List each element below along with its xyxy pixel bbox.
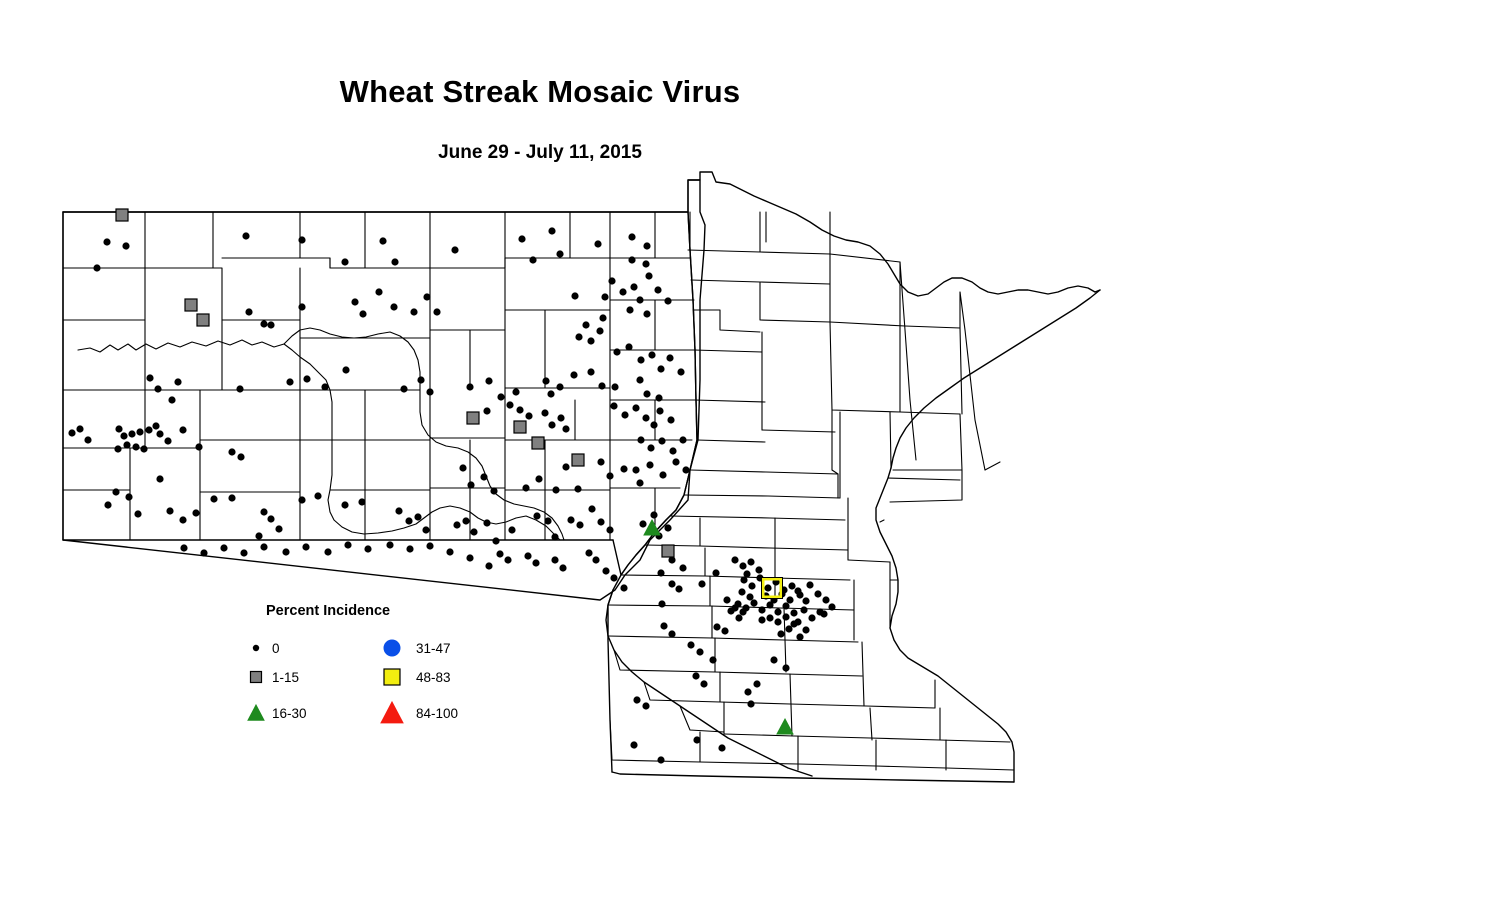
marker-dot bbox=[375, 288, 382, 295]
marker-square-gray bbox=[514, 421, 526, 433]
marker-dot bbox=[341, 501, 348, 508]
marker-dot bbox=[548, 227, 555, 234]
marker-triangle-green bbox=[777, 719, 793, 734]
marker-dot bbox=[602, 567, 609, 574]
marker-dot bbox=[529, 256, 536, 263]
marker-dot bbox=[547, 390, 554, 397]
marker-dot bbox=[766, 601, 773, 608]
legend-symbol-square bbox=[384, 669, 400, 685]
marker-dot bbox=[669, 447, 676, 454]
marker-dot bbox=[739, 608, 746, 615]
marker-dot bbox=[664, 297, 671, 304]
marker-dot bbox=[68, 429, 75, 436]
incidence-map: Percent Incidence 01-1516-3031-4748-8384… bbox=[0, 0, 1503, 900]
marker-dot bbox=[192, 509, 199, 516]
marker-dot bbox=[132, 443, 139, 450]
marker-dot bbox=[228, 494, 235, 501]
marker-dot bbox=[657, 365, 664, 372]
marker-dot bbox=[562, 463, 569, 470]
marker-dot bbox=[790, 609, 797, 616]
marker-dot bbox=[636, 376, 643, 383]
marker-dot bbox=[656, 407, 663, 414]
marker-dot bbox=[506, 401, 513, 408]
marker-dot bbox=[567, 516, 574, 523]
marker-dot bbox=[490, 487, 497, 494]
marker-dot bbox=[782, 664, 789, 671]
marker-dot bbox=[657, 569, 664, 576]
marker-dot bbox=[687, 641, 694, 648]
marker-dot bbox=[557, 414, 564, 421]
marker-dot bbox=[195, 443, 202, 450]
marker-dot bbox=[559, 564, 566, 571]
mn-counties bbox=[608, 212, 1014, 770]
marker-dot bbox=[738, 588, 745, 595]
marker-dot bbox=[414, 513, 421, 520]
marker-dot bbox=[551, 556, 558, 563]
marker-dot bbox=[664, 524, 671, 531]
marker-dot bbox=[588, 505, 595, 512]
marker-dot bbox=[562, 425, 569, 432]
marker-dot bbox=[747, 700, 754, 707]
marker-dot bbox=[451, 246, 458, 253]
marker-dot bbox=[84, 436, 91, 443]
marker-dot bbox=[128, 430, 135, 437]
marker-dot bbox=[390, 303, 397, 310]
marker-dot bbox=[659, 471, 666, 478]
marker-dot bbox=[601, 293, 608, 300]
marker-dot bbox=[698, 580, 705, 587]
marker-dot bbox=[650, 511, 657, 518]
marker-dot bbox=[525, 412, 532, 419]
marker-dot bbox=[518, 235, 525, 242]
marker-dot bbox=[608, 277, 615, 284]
marker-dot bbox=[395, 507, 402, 514]
legend-symbol-square bbox=[251, 672, 262, 683]
marker-dot bbox=[522, 484, 529, 491]
marker-dot bbox=[123, 441, 130, 448]
marker-dot bbox=[597, 518, 604, 525]
marker-dot bbox=[642, 702, 649, 709]
marker-dot bbox=[744, 688, 751, 695]
marker-dot bbox=[606, 472, 613, 479]
marker-dot bbox=[200, 549, 207, 556]
marker-dot bbox=[645, 272, 652, 279]
marker-dot bbox=[237, 453, 244, 460]
marker-dot bbox=[125, 493, 132, 500]
marker-dot bbox=[406, 545, 413, 552]
marker-dot bbox=[731, 556, 738, 563]
marker-dot bbox=[470, 528, 477, 535]
marker-dot bbox=[599, 314, 606, 321]
marker-dot bbox=[140, 445, 147, 452]
legend-title: Percent Incidence bbox=[266, 603, 390, 619]
marker-dot bbox=[114, 445, 121, 452]
marker-dot bbox=[611, 383, 618, 390]
marker-dot bbox=[808, 614, 815, 621]
marker-dot bbox=[753, 680, 760, 687]
legend: Percent Incidence 01-1516-3031-4748-8384… bbox=[248, 603, 458, 723]
marker-dot bbox=[417, 376, 424, 383]
marker-dot bbox=[156, 475, 163, 482]
legend-label: 31-47 bbox=[416, 641, 451, 656]
marker-dot bbox=[777, 630, 784, 637]
legend-symbol-circle bbox=[384, 640, 401, 657]
marker-dot bbox=[666, 354, 673, 361]
marker-square-gray bbox=[532, 437, 544, 449]
marker-dot bbox=[786, 596, 793, 603]
marker-dot bbox=[636, 296, 643, 303]
marker-dot bbox=[446, 548, 453, 555]
marker-dot bbox=[532, 559, 539, 566]
marker-dot bbox=[533, 512, 540, 519]
marker-dot bbox=[632, 466, 639, 473]
marker-dot bbox=[168, 396, 175, 403]
marker-dot bbox=[146, 374, 153, 381]
marker-dot bbox=[115, 425, 122, 432]
marker-dot bbox=[242, 232, 249, 239]
marker-dot bbox=[228, 448, 235, 455]
marker-dot bbox=[785, 625, 792, 632]
marker-dot bbox=[423, 293, 430, 300]
marker-dot bbox=[806, 581, 813, 588]
marker-dot bbox=[643, 242, 650, 249]
marker-dot bbox=[650, 421, 657, 428]
marker-dot bbox=[660, 622, 667, 629]
marker-dot bbox=[462, 517, 469, 524]
marker-dot bbox=[802, 626, 809, 633]
marker-dot bbox=[260, 508, 267, 515]
marker-dot bbox=[642, 414, 649, 421]
marker-dot bbox=[302, 543, 309, 550]
marker-dot bbox=[643, 310, 650, 317]
marker-dot bbox=[391, 258, 398, 265]
marker-dot bbox=[405, 517, 412, 524]
marker-dot bbox=[610, 574, 617, 581]
marker-dot bbox=[179, 426, 186, 433]
marker-dot bbox=[632, 404, 639, 411]
marker-dot bbox=[480, 473, 487, 480]
marker-dot bbox=[459, 464, 466, 471]
marker-dot bbox=[359, 310, 366, 317]
marker-dot bbox=[504, 556, 511, 563]
marker-dot bbox=[758, 606, 765, 613]
marker-dot bbox=[166, 507, 173, 514]
marker-dot bbox=[104, 501, 111, 508]
marker-dot bbox=[658, 437, 665, 444]
marker-dot bbox=[598, 382, 605, 389]
marker-dot bbox=[245, 308, 252, 315]
marker-dot bbox=[750, 599, 757, 606]
marker-dot bbox=[556, 250, 563, 257]
marker-dot bbox=[236, 385, 243, 392]
marker-dot bbox=[544, 517, 551, 524]
marker-dot bbox=[658, 600, 665, 607]
marker-dot bbox=[621, 411, 628, 418]
marker-dot bbox=[774, 608, 781, 615]
marker-dot bbox=[648, 351, 655, 358]
marker-dot bbox=[341, 258, 348, 265]
marker-dot bbox=[541, 409, 548, 416]
marker-dot bbox=[782, 602, 789, 609]
marker-dot bbox=[770, 656, 777, 663]
marker-dot bbox=[422, 526, 429, 533]
marker-dot bbox=[739, 562, 746, 569]
marker-dot bbox=[492, 537, 499, 544]
marker-dot bbox=[639, 520, 646, 527]
marker-dot bbox=[570, 371, 577, 378]
marker-dot bbox=[700, 680, 707, 687]
marker-dot bbox=[298, 496, 305, 503]
marker-dot bbox=[619, 288, 626, 295]
marker-dot bbox=[240, 549, 247, 556]
marker-dot bbox=[344, 541, 351, 548]
marker-dot bbox=[712, 569, 719, 576]
marker-dot bbox=[755, 566, 762, 573]
marker-dot bbox=[677, 368, 684, 375]
marker-dot bbox=[551, 533, 558, 540]
marker-dot bbox=[321, 383, 328, 390]
marker-dot bbox=[748, 582, 755, 589]
marker-dot bbox=[112, 488, 119, 495]
marker-dot bbox=[548, 421, 555, 428]
legend-label: 1-15 bbox=[272, 670, 299, 685]
marker-dot bbox=[628, 256, 635, 263]
marker-dot bbox=[286, 378, 293, 385]
marker-dot bbox=[630, 741, 637, 748]
marker-dot bbox=[542, 377, 549, 384]
marker-dot bbox=[642, 260, 649, 267]
marker-dot bbox=[654, 286, 661, 293]
marker-dot bbox=[93, 264, 100, 271]
marker-dot bbox=[626, 306, 633, 313]
marker-triangle-green bbox=[644, 520, 660, 535]
marker-dot bbox=[620, 584, 627, 591]
marker-square-gray bbox=[662, 545, 674, 557]
marker-dot bbox=[679, 436, 686, 443]
marker-dot bbox=[552, 486, 559, 493]
marker-dot bbox=[646, 461, 653, 468]
nd-counties bbox=[63, 212, 696, 540]
marker-dot bbox=[610, 402, 617, 409]
marker-dot bbox=[796, 633, 803, 640]
marker-dot bbox=[637, 356, 644, 363]
marker-dot bbox=[721, 627, 728, 634]
marker-dot bbox=[134, 510, 141, 517]
marker-dot bbox=[410, 308, 417, 315]
marker-dot bbox=[820, 610, 827, 617]
marker-dot bbox=[575, 333, 582, 340]
marker-dot bbox=[782, 613, 789, 620]
marker-dot bbox=[582, 321, 589, 328]
marker-dot bbox=[298, 236, 305, 243]
marker-dot bbox=[788, 582, 795, 589]
marker-dot bbox=[497, 393, 504, 400]
marker-square-gray bbox=[197, 314, 209, 326]
marker-dot bbox=[483, 519, 490, 526]
marker-dot bbox=[164, 437, 171, 444]
minnesota-outline bbox=[606, 172, 1100, 782]
marker-dot bbox=[314, 492, 321, 499]
marker-dot bbox=[693, 736, 700, 743]
marker-dot bbox=[453, 521, 460, 528]
legend-symbol-triangle bbox=[248, 705, 264, 720]
legend-symbol-dot bbox=[253, 645, 259, 651]
marker-dot bbox=[667, 416, 674, 423]
marker-dot bbox=[587, 368, 594, 375]
marker-dot bbox=[282, 548, 289, 555]
legend-label: 84-100 bbox=[416, 706, 458, 721]
marker-dot bbox=[596, 327, 603, 334]
marker-dot bbox=[255, 532, 262, 539]
marker-dot bbox=[709, 656, 716, 663]
marker-dot bbox=[633, 696, 640, 703]
marker-dot bbox=[587, 337, 594, 344]
marker-dot bbox=[594, 240, 601, 247]
marker-dot bbox=[718, 744, 725, 751]
marker-dot bbox=[597, 458, 604, 465]
marker-dot bbox=[822, 596, 829, 603]
marker-dot bbox=[814, 590, 821, 597]
marker-dot bbox=[628, 233, 635, 240]
marker-dot bbox=[672, 458, 679, 465]
marker-dot bbox=[679, 564, 686, 571]
marker-dot bbox=[630, 283, 637, 290]
marker-dot bbox=[379, 237, 386, 244]
marker-dot bbox=[535, 475, 542, 482]
marker-dot bbox=[643, 390, 650, 397]
marker-dot bbox=[152, 422, 159, 429]
marker-dot bbox=[735, 614, 742, 621]
marker-dot bbox=[800, 606, 807, 613]
marker-dot bbox=[613, 348, 620, 355]
marker-dot bbox=[655, 394, 662, 401]
marker-dot bbox=[260, 543, 267, 550]
marker-dot bbox=[746, 593, 753, 600]
marker-dot bbox=[657, 756, 664, 763]
marker-dot bbox=[512, 388, 519, 395]
marker-dot bbox=[692, 672, 699, 679]
marker-dot bbox=[758, 616, 765, 623]
marker-dot bbox=[774, 618, 781, 625]
marker-dot bbox=[675, 585, 682, 592]
marker-dot bbox=[794, 587, 801, 594]
marker-dot bbox=[743, 570, 750, 577]
marker-square-gray bbox=[116, 209, 128, 221]
marker-square-gray bbox=[572, 454, 584, 466]
map-page: Wheat Streak Mosaic Virus June 29 - July… bbox=[0, 0, 1503, 900]
marker-dot bbox=[156, 430, 163, 437]
marker-dot bbox=[174, 378, 181, 385]
legend-label: 48-83 bbox=[416, 670, 451, 685]
marker-dot bbox=[179, 516, 186, 523]
marker-dot bbox=[802, 597, 809, 604]
marker-dot bbox=[668, 630, 675, 637]
marker-dot bbox=[647, 444, 654, 451]
marker-dot bbox=[574, 485, 581, 492]
marker-dot bbox=[358, 498, 365, 505]
marker-dot bbox=[426, 388, 433, 395]
marker-dot bbox=[260, 320, 267, 327]
marker-dot bbox=[275, 525, 282, 532]
marker-dot bbox=[210, 495, 217, 502]
marker-dot bbox=[180, 544, 187, 551]
marker-dot bbox=[426, 542, 433, 549]
marker-dot bbox=[364, 545, 371, 552]
marker-dot bbox=[637, 436, 644, 443]
marker-dot bbox=[303, 375, 310, 382]
marker-square-gray bbox=[185, 299, 197, 311]
marker-dot bbox=[713, 623, 720, 630]
marker-dot bbox=[120, 432, 127, 439]
marker-dot bbox=[620, 465, 627, 472]
legend-symbol-triangle bbox=[381, 702, 403, 723]
marker-dot bbox=[433, 308, 440, 315]
marker-dot bbox=[485, 562, 492, 569]
marker-dot bbox=[794, 618, 801, 625]
marker-dot bbox=[606, 526, 613, 533]
marker-dot bbox=[571, 292, 578, 299]
marker-dot bbox=[576, 521, 583, 528]
marker-dot bbox=[145, 426, 152, 433]
marker-dot bbox=[400, 385, 407, 392]
marker-dot bbox=[76, 425, 83, 432]
marker-dot bbox=[467, 481, 474, 488]
marker-dot bbox=[496, 550, 503, 557]
marker-dot bbox=[727, 607, 734, 614]
marker-dot bbox=[483, 407, 490, 414]
marker-dot bbox=[351, 298, 358, 305]
marker-dot bbox=[516, 406, 523, 413]
nd-missouri-river bbox=[78, 328, 564, 540]
marker-dot bbox=[668, 580, 675, 587]
marker-dot bbox=[267, 515, 274, 522]
marker-dot bbox=[220, 544, 227, 551]
marker-dot bbox=[508, 526, 515, 533]
marker-dot bbox=[764, 584, 771, 591]
marker-dot bbox=[485, 377, 492, 384]
marker-dot bbox=[386, 541, 393, 548]
marker-dot bbox=[524, 552, 531, 559]
marker-dot bbox=[342, 366, 349, 373]
marker-dot bbox=[592, 556, 599, 563]
marker-dot bbox=[136, 428, 143, 435]
marker-dot bbox=[103, 238, 110, 245]
marker-dot bbox=[556, 383, 563, 390]
marker-dot bbox=[723, 596, 730, 603]
marker-dot bbox=[122, 242, 129, 249]
marker-dot bbox=[324, 548, 331, 555]
marker-dot bbox=[766, 614, 773, 621]
marker-dot bbox=[298, 303, 305, 310]
marker-dot bbox=[585, 549, 592, 556]
legend-label: 16-30 bbox=[272, 706, 307, 721]
marker-dot bbox=[466, 554, 473, 561]
marker-dot bbox=[747, 558, 754, 565]
marker-dot bbox=[466, 383, 473, 390]
marker-square-gray bbox=[467, 412, 479, 424]
marker-dot bbox=[267, 321, 274, 328]
legend-label: 0 bbox=[272, 641, 280, 656]
marker-dot bbox=[625, 343, 632, 350]
marker-dot bbox=[696, 648, 703, 655]
marker-dot bbox=[828, 603, 835, 610]
marker-dot bbox=[154, 385, 161, 392]
marker-dot bbox=[682, 466, 689, 473]
marker-dot bbox=[636, 479, 643, 486]
